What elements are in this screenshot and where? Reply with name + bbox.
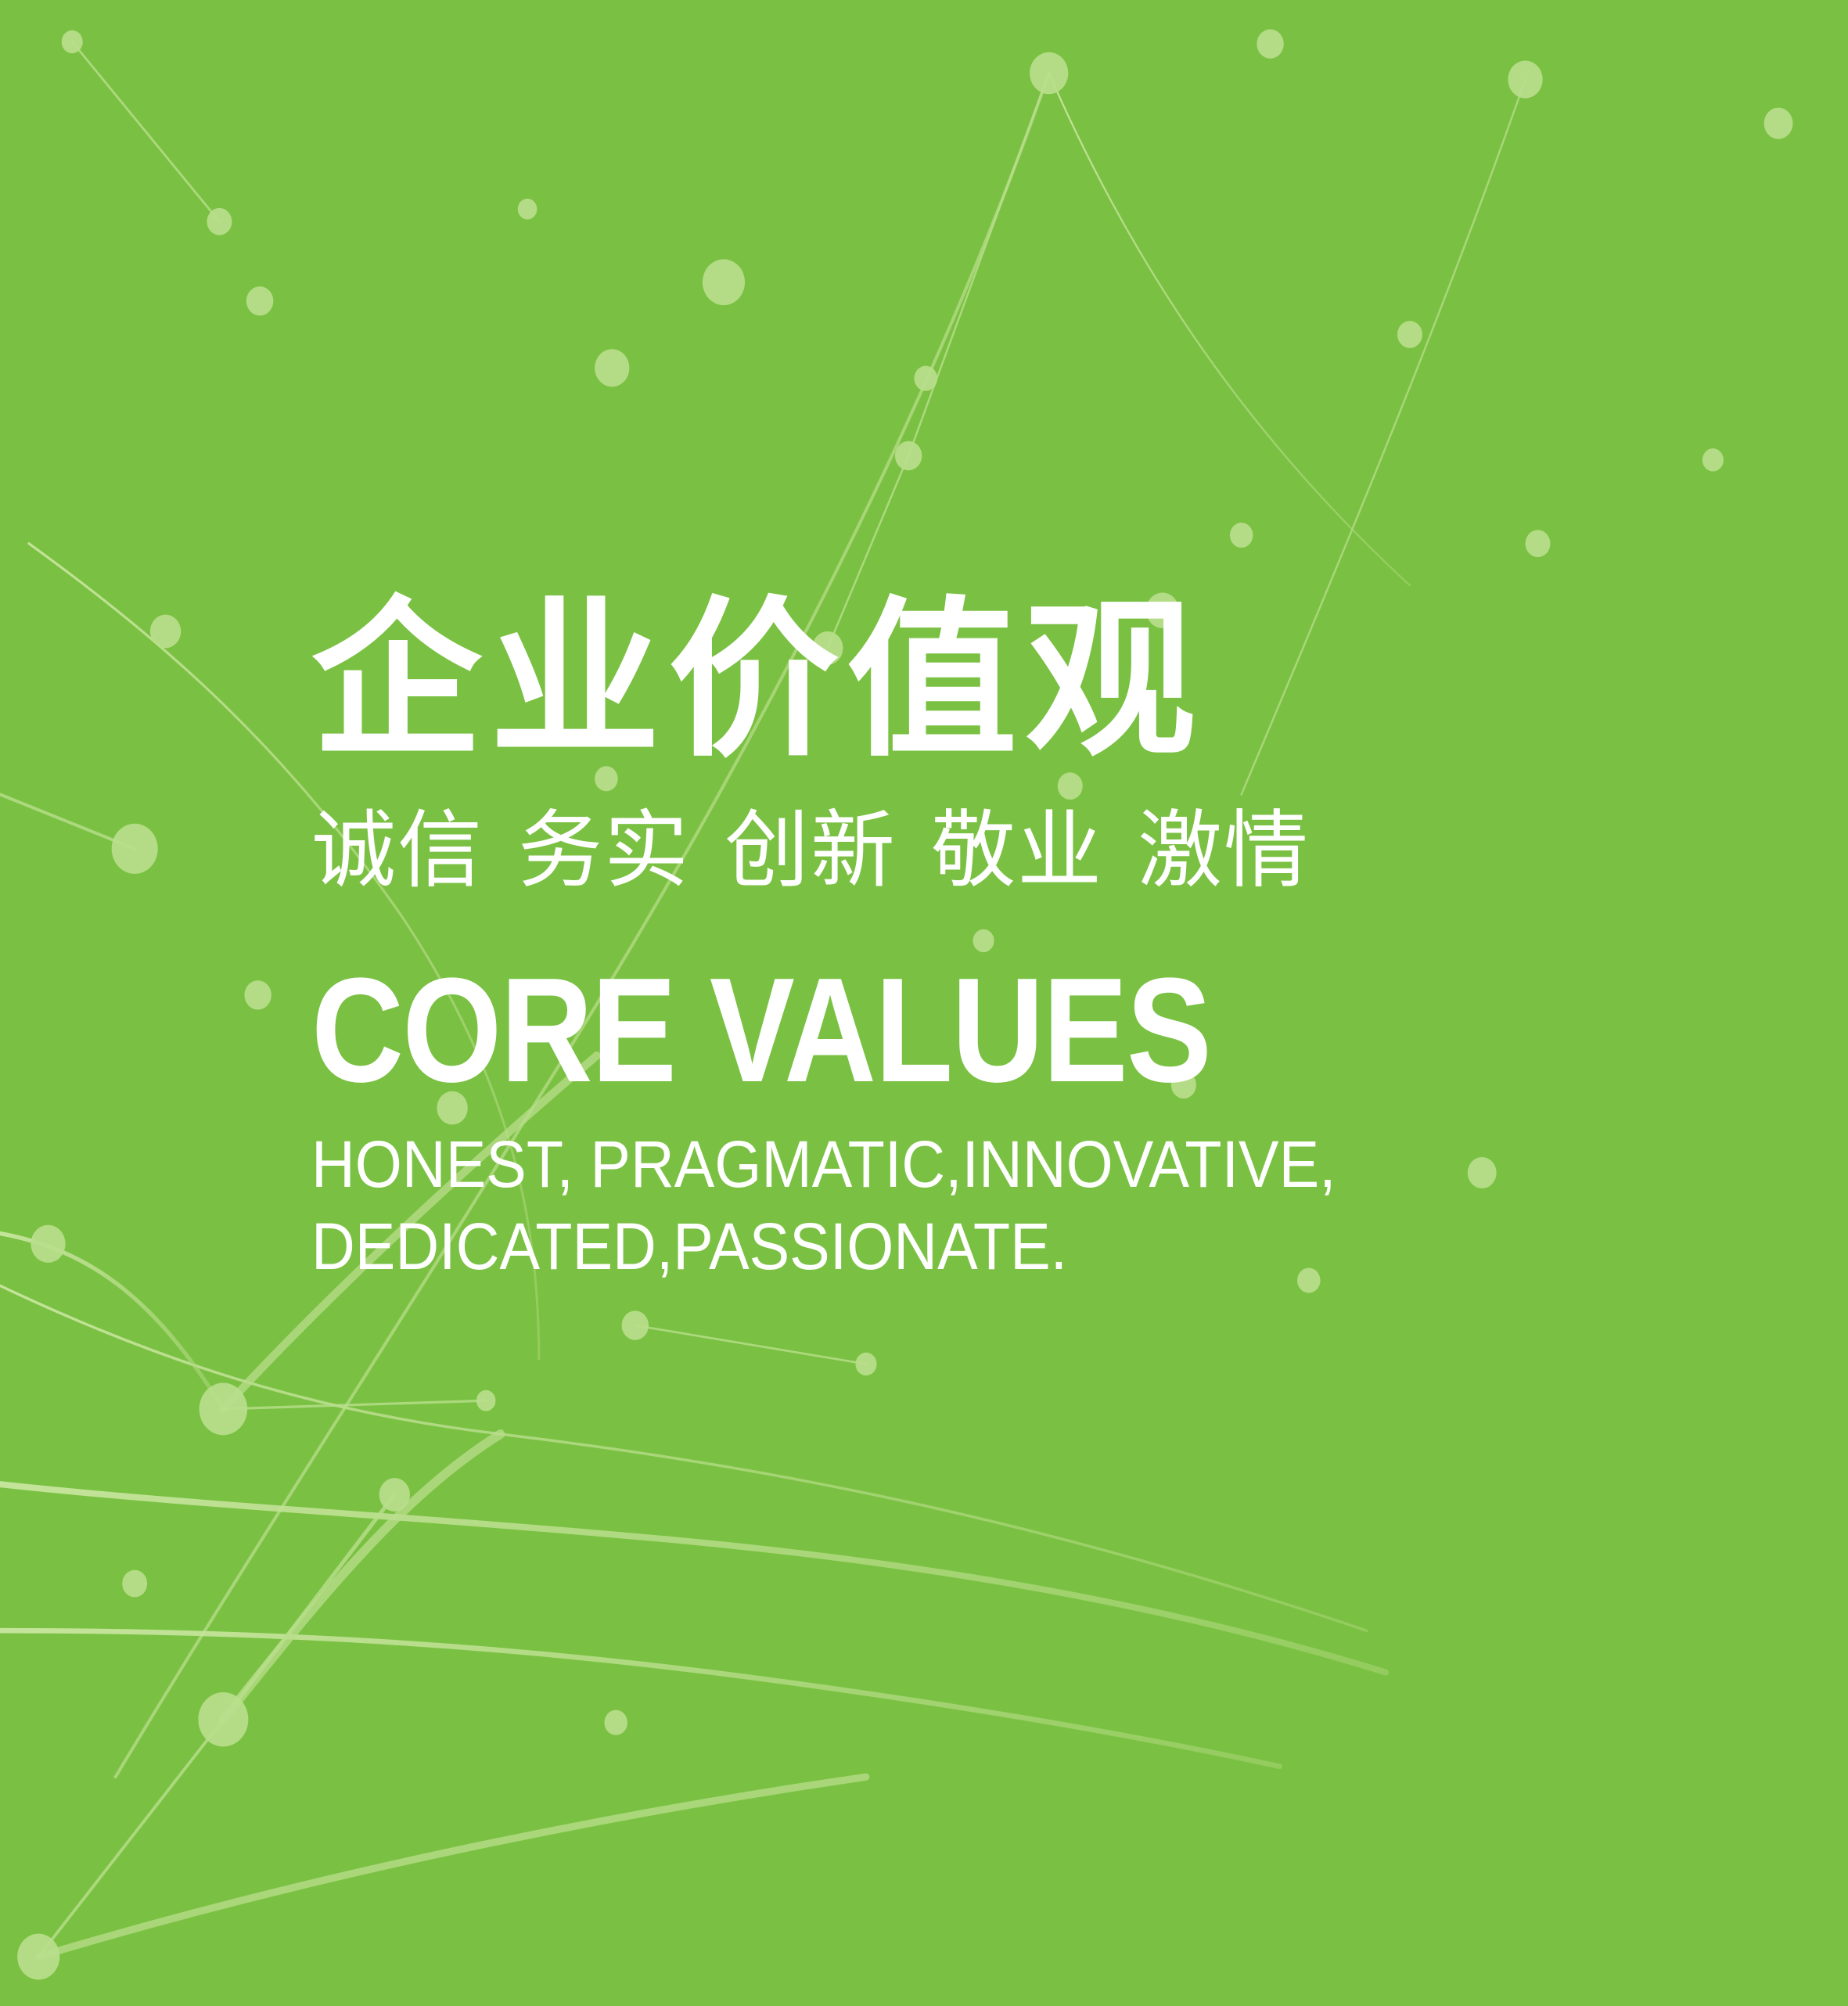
- value-word-pragmatic: 务实: [518, 803, 690, 897]
- value-word-passionate: 激情: [1138, 803, 1310, 897]
- english-values-line-1: HONEST, PRAGMATIC,INNOVATIVE,: [311, 1123, 1535, 1206]
- english-values-line-2: DEDICATED,PASSIONATE.: [311, 1206, 1535, 1288]
- core-values-chinese-list: 诚信务实创新敬业激情: [311, 806, 1641, 894]
- page-title-chinese: 企业价值观: [311, 595, 1641, 768]
- core-values-poster: 企业价值观 诚信务实创新敬业激情 CORE VALUES HONEST, PRA…: [0, 0, 1848, 2006]
- value-word-dedicated: 敬业: [931, 803, 1103, 897]
- value-word-honest: 诚信: [311, 803, 484, 897]
- page-title-english: CORE VALUES: [311, 956, 1455, 1105]
- core-values-english-list: HONEST, PRAGMATIC,INNOVATIVE, DEDICATED,…: [311, 1123, 1535, 1288]
- value-word-innovative: 创新: [724, 803, 897, 897]
- poster-text-block: 企业价值观 诚信务实创新敬业激情 CORE VALUES HONEST, PRA…: [311, 595, 1641, 1288]
